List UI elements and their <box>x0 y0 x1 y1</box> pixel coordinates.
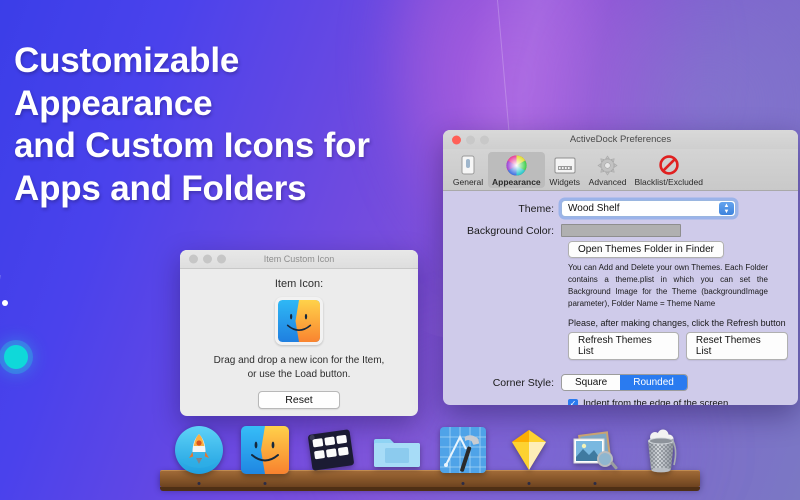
minimize-icon[interactable] <box>466 135 475 144</box>
themes-buttons-row: Refresh Themes List Reset Themes List <box>568 332 788 360</box>
launchpad-icon <box>174 425 224 475</box>
corner-style-option-square[interactable]: Square <box>562 375 620 390</box>
prefs-toolbar: General Appearance <box>443 149 798 191</box>
tab-appearance-label: Appearance <box>492 177 541 187</box>
gear-icon <box>597 154 618 176</box>
dock-item-mission-control[interactable] <box>306 425 356 475</box>
prefs-traffic-lights <box>452 135 489 144</box>
running-indicator <box>594 482 597 485</box>
corner-style-row: Corner Style: Square Rounded <box>443 374 788 391</box>
item-icon-dropzone[interactable] <box>275 297 323 345</box>
finder-icon <box>278 300 320 342</box>
running-indicator <box>462 482 465 485</box>
theme-row: Theme: Wood Shelf ▲▼ <box>443 200 788 217</box>
icon-reset-button[interactable]: Reset <box>258 391 339 409</box>
dock-item-preview[interactable] <box>570 425 620 475</box>
drag-instructions: Drag and drop a new icon for the Item, o… <box>180 354 418 382</box>
tab-appearance[interactable]: Appearance <box>488 152 545 188</box>
decorative-dot-cyan <box>4 345 28 369</box>
prefs-titlebar[interactable]: ActiveDock Preferences <box>443 130 798 149</box>
icon-window-titlebar[interactable]: Item Custom Icon <box>180 250 418 269</box>
xcode-icon <box>438 425 488 475</box>
dock-item-folder[interactable] <box>372 425 422 475</box>
tab-blacklist-excluded[interactable]: Blacklist/Excluded <box>630 152 707 188</box>
icon-window-body: Item Icon: Drag and drop a new i <box>180 269 418 409</box>
prohibited-icon <box>659 154 679 176</box>
running-indicator <box>264 482 267 485</box>
refresh-note: Please, after making changes, click the … <box>568 318 788 328</box>
headline: Customizable Appearance and Custom Icons… <box>14 40 434 211</box>
theme-label: Theme: <box>443 203 561 215</box>
dock-item-finder[interactable] <box>240 425 290 475</box>
maximize-icon[interactable] <box>217 255 226 264</box>
minimize-icon[interactable] <box>203 255 212 264</box>
switch-icon <box>461 154 475 176</box>
running-indicator <box>528 482 531 485</box>
activedock-preferences-window: ActiveDock Preferences General <box>443 130 798 405</box>
decorative-line-left <box>0 275 1 500</box>
open-themes-folder-button[interactable]: Open Themes Folder in Finder <box>568 241 724 258</box>
item-icon-label: Item Icon: <box>180 278 418 290</box>
headline-line-3: and Custom Icons for <box>14 125 434 168</box>
tab-widgets-label: Widgets <box>549 177 580 187</box>
corner-style-option-rounded[interactable]: Rounded <box>620 375 687 390</box>
close-icon[interactable] <box>189 255 198 264</box>
theme-select[interactable]: Wood Shelf ▲▼ <box>561 200 736 217</box>
decorative-line-top <box>497 0 510 139</box>
open-themes-row: Open Themes Folder in Finder <box>568 244 788 255</box>
mission-control-icon <box>306 425 356 475</box>
tab-general[interactable]: General <box>448 152 488 188</box>
headline-line-2: Appearance <box>14 83 434 126</box>
refresh-themes-list-button[interactable]: Refresh Themes List <box>568 332 679 360</box>
icon-window-traffic-lights <box>189 255 226 264</box>
checkbox-indent-from-edge[interactable]: ✓ Indent from the edge of the screen <box>568 398 788 405</box>
corner-style-segmented-control[interactable]: Square Rounded <box>561 374 688 391</box>
widgets-icon <box>554 154 576 176</box>
trash-icon <box>636 425 686 475</box>
tab-advanced-label: Advanced <box>589 177 627 187</box>
reset-themes-list-button[interactable]: Reset Themes List <box>686 332 788 360</box>
dock-item-sketch[interactable] <box>504 425 554 475</box>
close-icon[interactable] <box>452 135 461 144</box>
corner-style-label: Corner Style: <box>443 377 561 389</box>
background-color-swatch[interactable] <box>561 224 681 237</box>
prefs-window-title: ActiveDock Preferences <box>443 130 798 149</box>
dock-item-launchpad[interactable] <box>174 425 224 475</box>
decorative-dot-white <box>2 300 8 306</box>
tab-blacklist-label: Blacklist/Excluded <box>634 177 703 187</box>
checkbox-checked-icon: ✓ <box>568 399 578 406</box>
themes-description: You can Add and Delete your own Themes. … <box>568 262 768 310</box>
color-wheel-icon <box>506 154 527 176</box>
folder-icon <box>372 425 422 475</box>
theme-value: Wood Shelf <box>562 203 620 214</box>
chevron-updown-icon[interactable]: ▲▼ <box>719 202 734 215</box>
dock-items <box>160 417 700 475</box>
running-indicator <box>198 482 201 485</box>
sketch-icon <box>504 425 554 475</box>
dock <box>160 415 700 487</box>
preview-icon <box>570 425 620 475</box>
tab-general-label: General <box>453 177 483 187</box>
tab-advanced[interactable]: Advanced <box>585 152 631 188</box>
background-color-label: Background Color: <box>443 225 561 237</box>
drag-instructions-line-2: or use the Load button. <box>180 368 418 382</box>
maximize-icon[interactable] <box>480 135 489 144</box>
finder-icon <box>240 425 290 475</box>
item-custom-icon-window: Item Custom Icon Item Icon: <box>180 250 418 416</box>
checkbox-indent-label: Indent from the edge of the screen <box>583 398 728 405</box>
dock-item-xcode[interactable] <box>438 425 488 475</box>
dock-item-trash[interactable] <box>636 425 686 475</box>
drag-instructions-line-1: Drag and drop a new icon for the Item, <box>180 354 418 368</box>
headline-line-4: Apps and Folders <box>14 168 434 211</box>
tab-widgets[interactable]: Widgets <box>545 152 585 188</box>
prefs-content: Theme: Wood Shelf ▲▼ Background Color: O… <box>443 191 798 405</box>
headline-line-1: Customizable <box>14 40 434 83</box>
background-color-row: Background Color: <box>443 224 788 237</box>
